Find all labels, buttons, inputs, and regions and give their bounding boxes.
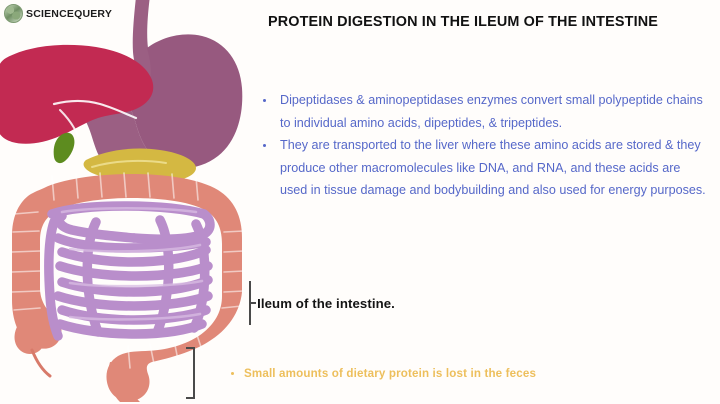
bullet-dot-icon [263, 144, 266, 147]
list-item: They are transported to the liver where … [258, 134, 710, 202]
brand-logo: SCIENCEQUERY [4, 4, 112, 23]
bullet-text: Dipeptidases & aminopeptidases enzymes c… [280, 93, 703, 130]
ileum-callout: Ileum of the intestine. [249, 281, 395, 325]
brand-wordmark: SCIENCEQUERY [26, 8, 112, 20]
callout-tick-icon [250, 302, 256, 304]
body-bullet-list: Dipeptidases & aminopeptidases enzymes c… [258, 89, 710, 202]
ileum-callout-label: Ileum of the intestine. [257, 296, 395, 311]
slide-canvas: SCIENCEQUERY PROTEIN DIGESTION IN THE IL… [0, 0, 720, 404]
page-title: PROTEIN DIGESTION IN THE ILEUM OF THE IN… [228, 14, 698, 30]
bracket-arm-bottom [186, 397, 195, 399]
list-item: Dipeptidases & aminopeptidases enzymes c… [258, 89, 710, 134]
bullet-text: They are transported to the liver where … [280, 138, 706, 197]
digestive-system-illustration [0, 0, 260, 404]
bracket-spine [193, 347, 195, 399]
sciencequery-globe-icon [4, 4, 23, 23]
appendix-shape [32, 350, 50, 376]
callout-bracket-icon [186, 347, 195, 399]
bullet-dot-icon [231, 372, 234, 375]
bullet-dot-icon [263, 99, 266, 102]
feces-callout: Small amounts of dietary protein is lost… [186, 347, 536, 399]
feces-callout-label: Small amounts of dietary protein is lost… [244, 367, 536, 380]
